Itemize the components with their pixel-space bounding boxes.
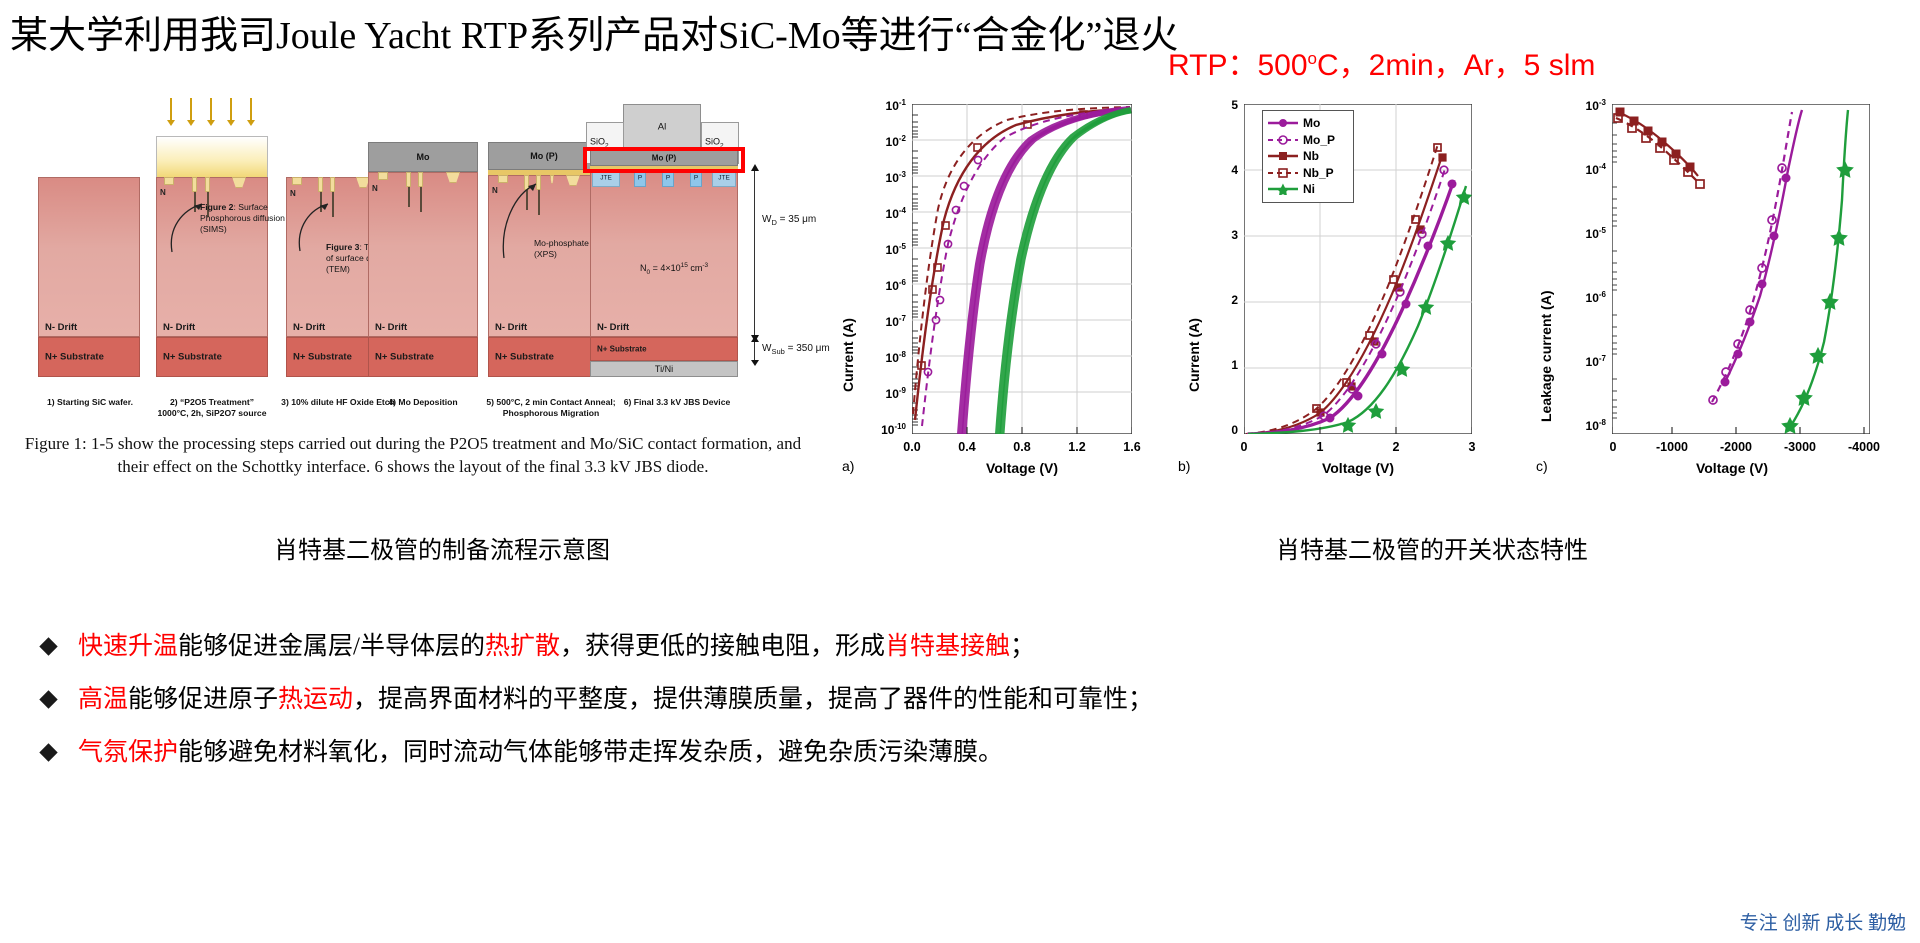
step6-tini-label: Ti/Ni	[591, 364, 737, 374]
step6-substrate-label: N+ Substrate	[597, 345, 647, 354]
step2-substrate-layer: N+ Substrate	[156, 337, 268, 377]
step2-trench	[164, 177, 174, 185]
step2-trench	[205, 177, 210, 192]
chart-c-xtick: 0	[1596, 440, 1630, 454]
degree-symbol: o	[1308, 49, 1317, 68]
legend-label-mo: Mo	[1303, 116, 1320, 130]
bullet-1-seg-2: 热扩散	[485, 633, 560, 660]
chart-a-ytick: 10-3	[854, 170, 906, 185]
step4-mo-layer: Mo	[368, 142, 478, 172]
chart-b-xtick: 2	[1380, 440, 1412, 454]
chart-a-xlabel: Voltage (V)	[942, 460, 1102, 476]
chart-b-xtick: 1	[1304, 440, 1336, 454]
chart-b-ylabel: Current (A)	[1186, 318, 1202, 392]
step2-trench	[192, 177, 197, 192]
bullet-2-seg-1: 能够促进原子	[128, 686, 278, 713]
chart-a-ytick: 10-5	[854, 242, 906, 257]
legend-symbol-mo	[1268, 117, 1298, 129]
step4-trench	[378, 172, 388, 180]
chart-a-plot	[912, 104, 1132, 434]
chart-a-ytick: 10-9	[854, 386, 906, 401]
chart-c-ytick: 10-6	[1554, 290, 1606, 305]
chart-a-ytick: 10-1	[854, 98, 906, 113]
chart-c-plot	[1612, 104, 1870, 434]
step1-drift-layer: N- Drift	[38, 177, 140, 337]
legend-label-ni: Ni	[1303, 182, 1315, 196]
legend-symbol-nb-p	[1268, 167, 1298, 179]
chart-b-ytick: 3	[1200, 228, 1238, 242]
step4-substrate-label: N+ Substrate	[375, 352, 434, 363]
bullet-line-3: 气氛保护能够避免材料氧化，同时流动气体能够带走挥发杂质，避免杂质污染薄膜。	[78, 732, 1003, 768]
step3-substrate-label: N+ Substrate	[293, 352, 352, 363]
chart-panel-b: Current (A) 5 4 3 2 1 0	[1172, 92, 1522, 492]
step2-caption: 2) “P2O5 Treatment” 1000°C, 2h, SiP2O7 s…	[144, 397, 280, 418]
legend-label-nb-p: Nb_P	[1303, 166, 1334, 180]
step6-stack: Mo (P) N- Drift N+ Substrate Ti/Ni JTE P	[590, 150, 738, 377]
chart-c-xlabel: Voltage (V)	[1652, 460, 1812, 476]
step2-p2o5-layer	[156, 136, 268, 177]
legend-item-nb[interactable]: Nb	[1268, 148, 1346, 165]
figure-caption: Figure 1: 1-5 show the processing steps …	[18, 432, 808, 478]
chart-c-ytick: 10-5	[1554, 226, 1606, 241]
chart-a-ytick: 10-4	[854, 206, 906, 221]
bullet-3-seg-0: 气氛保护	[78, 739, 178, 766]
bullet-line-1: 快速升温能够促进金属层/半导体层的热扩散，获得更低的接触电阻，形成肖特基接触；	[78, 626, 1035, 662]
dimension-wsub-label: WSub = 350 μm	[762, 343, 830, 356]
step1-substrate-layer: N+ Substrate	[38, 337, 140, 377]
legend-item-mo[interactable]: Mo	[1268, 115, 1346, 132]
step2-stack: N- Drift N+ Substrate N	[156, 136, 268, 377]
step3-n-marker: N	[290, 189, 296, 198]
rtp-condition-label: RTP：500oC，2min，Ar，5 slm	[1168, 40, 1595, 84]
chart-c-ytick: 10-7	[1554, 354, 1606, 369]
step6-pwell-label: P	[691, 175, 701, 182]
step6-drift-layer: N- Drift	[590, 169, 738, 337]
legend-label-mo-p: Mo_P	[1303, 133, 1335, 147]
step6-drift-label: N- Drift	[597, 322, 629, 333]
figure-caption-text: Figure 1: 1-5 show the processing steps …	[25, 434, 801, 476]
step5-drift-label: N- Drift	[495, 322, 527, 333]
chart-a-ytick: 10-8	[854, 350, 906, 365]
legend-item-mo-p[interactable]: Mo_P	[1268, 132, 1346, 149]
step4-drift-layer: N- Drift	[368, 172, 478, 337]
chart-a-xtick: 0.0	[894, 440, 930, 454]
footer-slogan: 专注 创新 成长 勤勉	[1740, 908, 1906, 935]
subcaption-right: 肖特基二极管的开关状态特性	[1276, 530, 1588, 565]
dimension-wsub-arrowheads	[749, 336, 761, 366]
step6-pwell-label: P	[635, 175, 645, 182]
subcaption-left: 肖特基二极管的制备流程示意图	[274, 530, 610, 565]
chart-a-xtick: 1.6	[1114, 440, 1150, 454]
step2-annotation-bold: Figure 2	[200, 202, 233, 212]
step3-trench	[330, 177, 335, 192]
step4-mo-label: Mo	[369, 152, 477, 162]
chart-c-xtick: -4000	[1836, 440, 1892, 454]
step4-substrate-layer: N+ Substrate	[368, 337, 478, 377]
bullet-marker-2	[39, 690, 57, 708]
chart-a-xtick: 0.4	[949, 440, 985, 454]
chart-b-ytick: 5	[1200, 98, 1238, 112]
legend-symbol-ni	[1268, 183, 1298, 195]
step2-n-marker: N	[160, 188, 166, 197]
step6-caption: 6) Final 3.3 kV JBS Device	[612, 397, 742, 408]
bullet-2-seg-2: 热运动	[278, 686, 353, 713]
step2-substrate-label: N+ Substrate	[163, 352, 222, 363]
chart-b-xtick: 3	[1456, 440, 1488, 454]
bullet-1-seg-5: ；	[1010, 633, 1035, 660]
bullet-marker-1	[39, 637, 57, 655]
step4-trench	[406, 172, 411, 187]
chart-c-ytick: 10-8	[1554, 418, 1606, 433]
highlight-red-box	[583, 147, 745, 173]
legend-label-nb: Nb	[1303, 149, 1319, 163]
chart-b-xtick: 0	[1228, 440, 1260, 454]
bullet-2-seg-3: ，提高界面材料的平整度，提供薄膜质量，提高了器件的性能和可靠性；	[353, 686, 1153, 713]
chart-b-ytick: 4	[1200, 163, 1238, 177]
chart-c-ylabel: Leakage current (A)	[1538, 291, 1554, 422]
legend-item-ni[interactable]: Ni	[1268, 181, 1346, 198]
step5-n-marker: N	[492, 186, 498, 195]
chart-a-ytick: 10-6	[854, 278, 906, 293]
chart-b-ytick: 1	[1200, 358, 1238, 372]
step4-trench	[418, 172, 423, 187]
slide-root: 某大学利用我司Joule Yacht RTP系列产品对SiC-Mo等进行“合金化…	[0, 0, 1920, 943]
chart-a-panel-label: a)	[842, 458, 854, 474]
step3-trench	[292, 177, 302, 185]
chart-c-ytick: 10-3	[1554, 98, 1606, 113]
step4-stack: Mo N- Drift N+ Substrate N	[368, 142, 478, 377]
step6-al-electrode: Al	[623, 104, 701, 150]
step4-n-marker: N	[372, 184, 378, 193]
bullet-1-seg-3: ，获得更低的接触电阻，形成	[560, 633, 885, 660]
legend-symbol-nb	[1268, 150, 1298, 162]
chart-b-panel-label: b)	[1178, 458, 1190, 474]
step5-substrate-label: N+ Substrate	[495, 352, 554, 363]
chart-a-ytick: 10-7	[854, 314, 906, 329]
chart-a-xtick: 1.2	[1059, 440, 1095, 454]
chart-c-xtick: -3000	[1772, 440, 1828, 454]
chart-c-xtick: -2000	[1708, 440, 1764, 454]
step1-drift-label: N- Drift	[45, 322, 77, 333]
step2-annotation: Figure 2: Surface Phosphorous diffusion …	[200, 202, 286, 235]
chart-panel-a: Current (A) 10-1 10-2 10-3 10-4 10-5 10-…	[832, 92, 1172, 492]
step5-substrate-layer: N+ Substrate	[488, 337, 600, 377]
rtp-prefix: RTP：500	[1168, 49, 1308, 82]
bullet-1-seg-4: 肖特基接触	[885, 633, 1010, 660]
dimension-wd-arrowheads	[749, 164, 761, 342]
step6-jte-label-right: JTE	[713, 175, 735, 182]
bullet-1-seg-1: 能够促进金属层/半导体层的	[178, 633, 485, 660]
chart-c-xtick: -1000	[1644, 440, 1700, 454]
step6-jte-label: JTE	[593, 175, 619, 182]
step3-trench	[318, 177, 323, 192]
chart-c-panel-label: c)	[1536, 458, 1548, 474]
step1-stack: N- Drift N+ Substrate	[38, 177, 140, 377]
chart-a-xtick: 0.8	[1004, 440, 1040, 454]
chart-panel-c: Leakage current (A) 10-3 10-4 10-5 10-6 …	[1522, 92, 1910, 492]
legend-symbol-mo-p	[1268, 134, 1298, 146]
step6-backside-metal: Ti/Ni	[590, 361, 738, 377]
step4-drift-label: N- Drift	[375, 322, 407, 333]
step2-drift-label: N- Drift	[163, 322, 195, 333]
bullet-3-seg-1: 能够避免材料氧化，同时流动气体能够带走挥发杂质，避免杂质污染薄膜。	[178, 739, 1003, 766]
step1-substrate-label: N+ Substrate	[45, 352, 104, 363]
bullet-line-2: 高温能够促进原子热运动，提高界面材料的平整度，提供薄膜质量，提高了器件的性能和可…	[78, 679, 1153, 715]
step4-defect	[408, 187, 410, 207]
rtp-suffix: C，2min，Ar，5 slm	[1317, 49, 1595, 82]
step6-al-label: Al	[624, 122, 700, 133]
chart-c-ytick: 10-4	[1554, 162, 1606, 177]
chart-a-ytick: 10-2	[854, 134, 906, 149]
chart-b-ytick: 2	[1200, 293, 1238, 307]
chart-a-ytick: 10-10	[846, 422, 906, 437]
step6-pwell-label: P	[663, 175, 673, 182]
step6-substrate-layer: N+ Substrate	[590, 337, 738, 361]
chart-b-xlabel: Voltage (V)	[1278, 460, 1438, 476]
chart-b-legend: Mo Mo_P Nb	[1262, 110, 1354, 203]
legend-item-nb-p[interactable]: Nb_P	[1268, 165, 1346, 182]
bullet-2-seg-0: 高温	[78, 686, 128, 713]
bullet-marker-3	[39, 743, 57, 761]
iv-characteristics-charts: Current (A) 10-1 10-2 10-3 10-4 10-5 10-…	[832, 92, 1910, 492]
step3-drift-label: N- Drift	[293, 322, 325, 333]
step5-caption: 5) 500°C, 2 min Contact Anneal; Phosphor…	[476, 397, 626, 418]
chart-b-ytick: 0	[1200, 423, 1238, 437]
step3-annotation-bold: Figure 3	[326, 242, 359, 252]
page-title: 某大学利用我司Joule Yacht RTP系列产品对SiC-Mo等进行“合金化…	[10, 4, 1178, 59]
step6-doping-label: N0 = 4×1015 cm-3	[640, 262, 708, 276]
dimension-wd-label: WD = 35 μm	[762, 214, 816, 227]
step4-defect	[420, 187, 422, 212]
step4-caption: 4) Mo Deposition	[362, 397, 484, 408]
step1-caption: 1) Starting SiC wafer.	[26, 397, 154, 408]
bullet-1-seg-0: 快速升温	[78, 633, 178, 660]
